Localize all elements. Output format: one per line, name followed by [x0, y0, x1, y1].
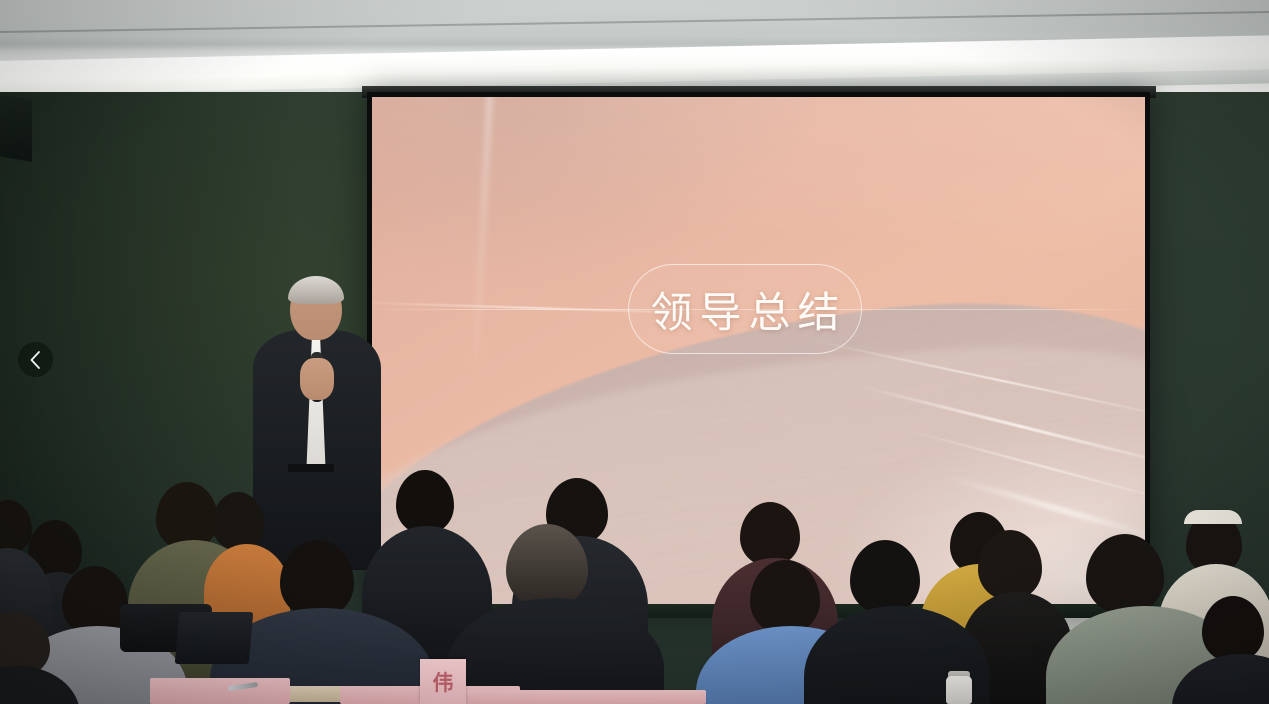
laptop — [175, 612, 254, 664]
table-mat — [466, 690, 706, 704]
photo-viewer: 领导总结 — [0, 0, 1269, 704]
presenter-hands — [300, 358, 334, 400]
previous-image-button[interactable] — [18, 342, 53, 377]
slide-title-text: 领导总结 — [643, 279, 846, 340]
presenter-belt — [288, 464, 334, 472]
ceiling-speaker — [0, 92, 32, 162]
thermos — [946, 676, 972, 704]
chevron-left-icon — [29, 350, 42, 370]
table-mat — [150, 678, 290, 704]
name-card: 伟 — [420, 659, 466, 704]
slide-title-pill: 领导总结 — [628, 264, 862, 354]
name-card-text: 伟 — [433, 667, 454, 697]
